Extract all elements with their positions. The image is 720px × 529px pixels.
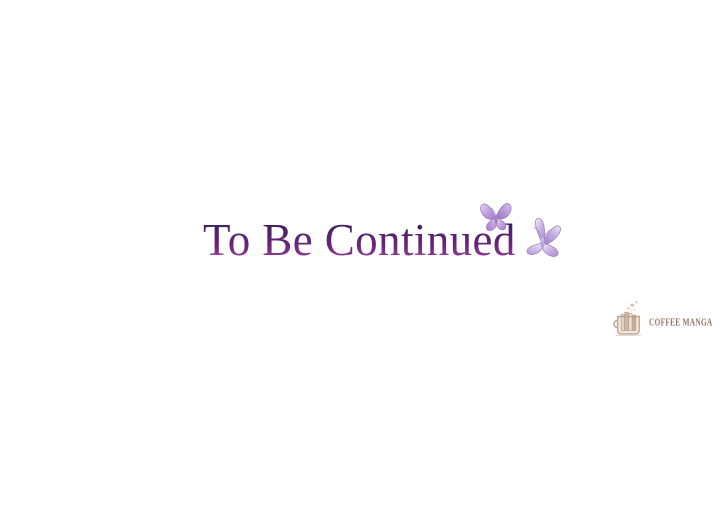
coffee-manga-brand-label: COFFEE MANGA [649, 316, 713, 328]
coffee-manga-watermark: COFFEE MANGA [610, 298, 714, 342]
to-be-continued-text: To Be Continued [203, 214, 516, 266]
end-card-page: To Be Continued [0, 0, 720, 529]
books-icon [621, 312, 636, 330]
coffee-mug-icon [610, 300, 648, 340]
heart-steam-icon [627, 301, 638, 311]
to-be-continued-block: To Be Continued [0, 186, 720, 286]
butterfly-large-icon [514, 213, 572, 271]
